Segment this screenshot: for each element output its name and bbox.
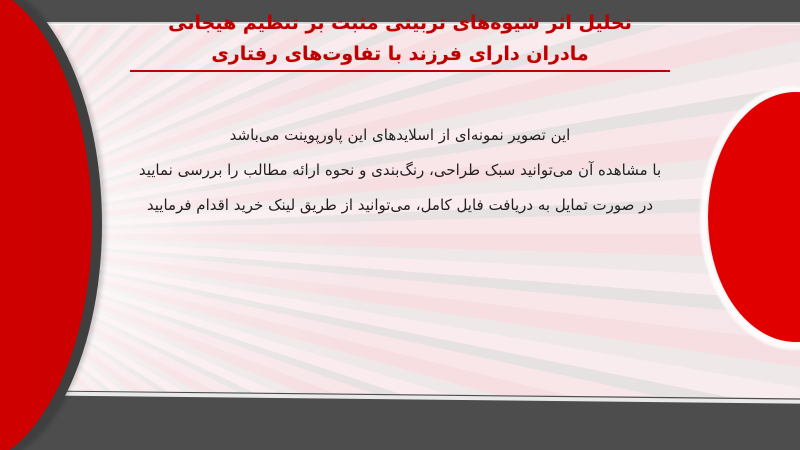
title-underline-rule (130, 70, 670, 72)
title-line-2: مادران دارای فرزند با تفاوت‌های رفتاری (40, 39, 760, 70)
title-line-1: تحلیل اثر شیوه‌های تربیتی مثبت بر تنظیم … (40, 8, 760, 39)
body-line-3: در صورت تمایل به دریافت فایل کامل، می‌تو… (60, 188, 740, 223)
presentation-slide: تحلیل اثر شیوه‌های تربیتی مثبت بر تنظیم … (0, 0, 800, 450)
body-line-1: این تصویر نمونه‌ای از اسلایدهای این پاور… (60, 118, 740, 153)
slide-body-text: این تصویر نمونه‌ای از اسلایدهای این پاور… (60, 118, 740, 223)
body-line-2: با مشاهده آن می‌توانید سبک طراحی، رنگ‌بن… (60, 153, 740, 188)
slide-title: تحلیل اثر شیوه‌های تربیتی مثبت بر تنظیم … (0, 8, 800, 70)
